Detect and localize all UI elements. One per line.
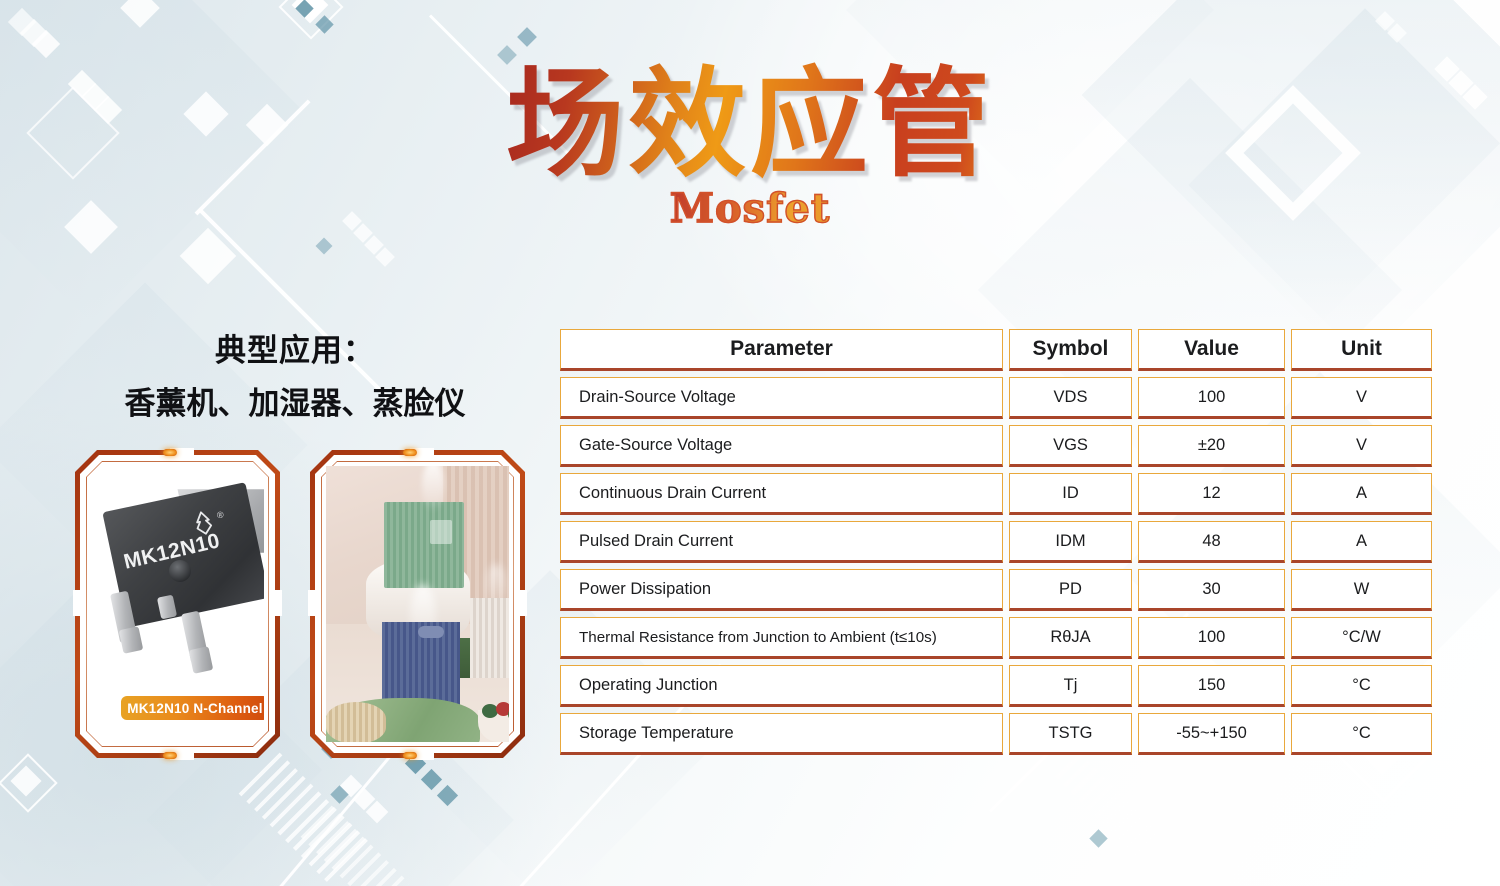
table-row: Storage Temperature TSTG -55~+150 °C bbox=[560, 713, 1432, 755]
bg-diamond bbox=[292, 0, 329, 23]
cell-value: 100 bbox=[1138, 617, 1285, 659]
cell-parameter: Pulsed Drain Current bbox=[560, 521, 1003, 563]
cell-parameter: Drain-Source Voltage bbox=[560, 377, 1003, 419]
cell-unit: A bbox=[1291, 521, 1432, 563]
cell-parameter: Power Dissipation bbox=[560, 569, 1003, 611]
photo-device-green-panel bbox=[430, 520, 452, 544]
photo-device-green bbox=[384, 502, 464, 588]
column-header-symbol: Symbol bbox=[1009, 329, 1132, 371]
bg-accent-square bbox=[517, 27, 537, 47]
frame-gap-left bbox=[73, 590, 82, 616]
bg-square bbox=[8, 8, 36, 36]
bg-diamond bbox=[10, 765, 41, 796]
bg-accent-square bbox=[315, 15, 333, 33]
cell-unit: V bbox=[1291, 377, 1432, 419]
registered-trademark-symbol: ® bbox=[216, 509, 225, 520]
humidifier-lifestyle-photo bbox=[326, 466, 509, 742]
bg-accent-square bbox=[316, 238, 333, 255]
bg-square bbox=[20, 19, 48, 47]
cell-parameter: Storage Temperature bbox=[560, 713, 1003, 755]
cell-unit: °C/W bbox=[1291, 617, 1432, 659]
bg-accent-square bbox=[330, 785, 348, 803]
bg-stripes bbox=[1056, 753, 1165, 862]
bg-diamond-outline bbox=[278, 0, 343, 40]
column-header-parameter: Parameter bbox=[560, 329, 1003, 371]
frame-glow-dot-top bbox=[403, 449, 417, 456]
bg-accent-square bbox=[1089, 829, 1107, 847]
column-header-unit: Unit bbox=[1291, 329, 1432, 371]
typical-applications-block: 典型应用： 香薰机、加湿器、蒸脸仪 bbox=[60, 325, 530, 423]
table-row: Thermal Resistance from Junction to Ambi… bbox=[560, 617, 1432, 659]
cell-parameter: Thermal Resistance from Junction to Ambi… bbox=[560, 617, 1003, 659]
table-row: Continuous Drain Current ID 12 A bbox=[560, 473, 1432, 515]
bg-square bbox=[1375, 11, 1395, 31]
table-row: Gate-Source Voltage VGS ±20 V bbox=[560, 425, 1432, 467]
bg-accent-square bbox=[421, 769, 442, 790]
cell-symbol: ID bbox=[1009, 473, 1132, 515]
bg-accent-square bbox=[437, 785, 458, 806]
frame-glow-dot-bottom bbox=[163, 752, 177, 759]
table-row: Drain-Source Voltage VDS 100 V bbox=[560, 377, 1432, 419]
cell-unit: V bbox=[1291, 425, 1432, 467]
bg-square bbox=[120, 0, 160, 28]
application-photo-card[interactable] bbox=[310, 450, 525, 758]
cell-value: 150 bbox=[1138, 665, 1285, 707]
bg-stripes bbox=[239, 753, 372, 886]
bg-stripes bbox=[301, 806, 410, 886]
page-title: 场效应管 bbox=[506, 62, 994, 187]
column-header-value: Value bbox=[1138, 329, 1285, 371]
cell-symbol: Tj bbox=[1009, 665, 1132, 707]
cell-symbol: VDS bbox=[1009, 377, 1132, 419]
table-row: Power Dissipation PD 30 W bbox=[560, 569, 1432, 611]
bg-square bbox=[32, 30, 60, 58]
cell-symbol: TSTG bbox=[1009, 713, 1132, 755]
photo-area bbox=[326, 466, 509, 742]
bg-accent-square bbox=[295, 0, 313, 18]
photo-device-white-mark bbox=[475, 614, 501, 627]
product-image-card[interactable]: ® MK12N10 MK12N10 N-Channel bbox=[75, 450, 280, 758]
cell-symbol: IDM bbox=[1009, 521, 1132, 563]
bg-square bbox=[364, 235, 384, 255]
cell-symbol: PD bbox=[1009, 569, 1132, 611]
cell-parameter: Operating Junction bbox=[560, 665, 1003, 707]
cell-value: 12 bbox=[1138, 473, 1285, 515]
frame-glow-dot-bottom bbox=[403, 752, 417, 759]
frame-glow-dot-top bbox=[163, 449, 177, 456]
frame-gap-left bbox=[308, 590, 317, 616]
cell-value: 48 bbox=[1138, 521, 1285, 563]
photo-device-white bbox=[470, 598, 509, 678]
product-label-chip: MK12N10 N-Channel bbox=[121, 696, 264, 720]
table-header-row: Parameter Symbol Value Unit bbox=[560, 329, 1432, 371]
bg-stripes bbox=[1108, 792, 1191, 875]
applications-list: 香薰机、加湿器、蒸脸仪 bbox=[60, 378, 530, 423]
applications-heading: 典型应用： bbox=[60, 325, 530, 370]
specification-table: Parameter Symbol Value Unit Drain-Source… bbox=[560, 329, 1432, 761]
cell-unit: W bbox=[1291, 569, 1432, 611]
frame-gap-right bbox=[273, 590, 282, 616]
poster-canvas: 场效应管 Mosfet 典型应用： 香薰机、加湿器、蒸脸仪 bbox=[0, 0, 1500, 886]
product-image-area: ® MK12N10 MK12N10 N-Channel bbox=[91, 466, 264, 742]
cell-parameter: Gate-Source Voltage bbox=[560, 425, 1003, 467]
bg-diamond-outline bbox=[0, 753, 58, 812]
cell-unit: A bbox=[1291, 473, 1432, 515]
cell-value: 100 bbox=[1138, 377, 1285, 419]
cell-value: ±20 bbox=[1138, 425, 1285, 467]
cell-parameter: Continuous Drain Current bbox=[560, 473, 1003, 515]
title-block: 场效应管 Mosfet bbox=[0, 62, 1500, 232]
cell-unit: °C bbox=[1291, 665, 1432, 707]
photo-device-blue-top bbox=[418, 626, 444, 638]
frame-gap-right bbox=[518, 590, 527, 616]
bg-square bbox=[180, 228, 237, 285]
table-row: Pulsed Drain Current IDM 48 A bbox=[560, 521, 1432, 563]
cell-unit: °C bbox=[1291, 713, 1432, 755]
table-row: Operating Junction Tj 150 °C bbox=[560, 665, 1432, 707]
bg-square bbox=[353, 788, 376, 811]
bg-square bbox=[340, 775, 363, 798]
cell-value: 30 bbox=[1138, 569, 1285, 611]
chip-lead bbox=[189, 646, 214, 674]
cell-value: -55~+150 bbox=[1138, 713, 1285, 755]
cell-symbol: VGS bbox=[1009, 425, 1132, 467]
bg-square bbox=[1387, 23, 1407, 43]
photo-wood-bowl bbox=[326, 702, 386, 742]
cell-symbol: RθJA bbox=[1009, 617, 1132, 659]
bg-square bbox=[366, 801, 389, 824]
chip-lead bbox=[119, 626, 144, 654]
bg-square bbox=[375, 247, 395, 267]
